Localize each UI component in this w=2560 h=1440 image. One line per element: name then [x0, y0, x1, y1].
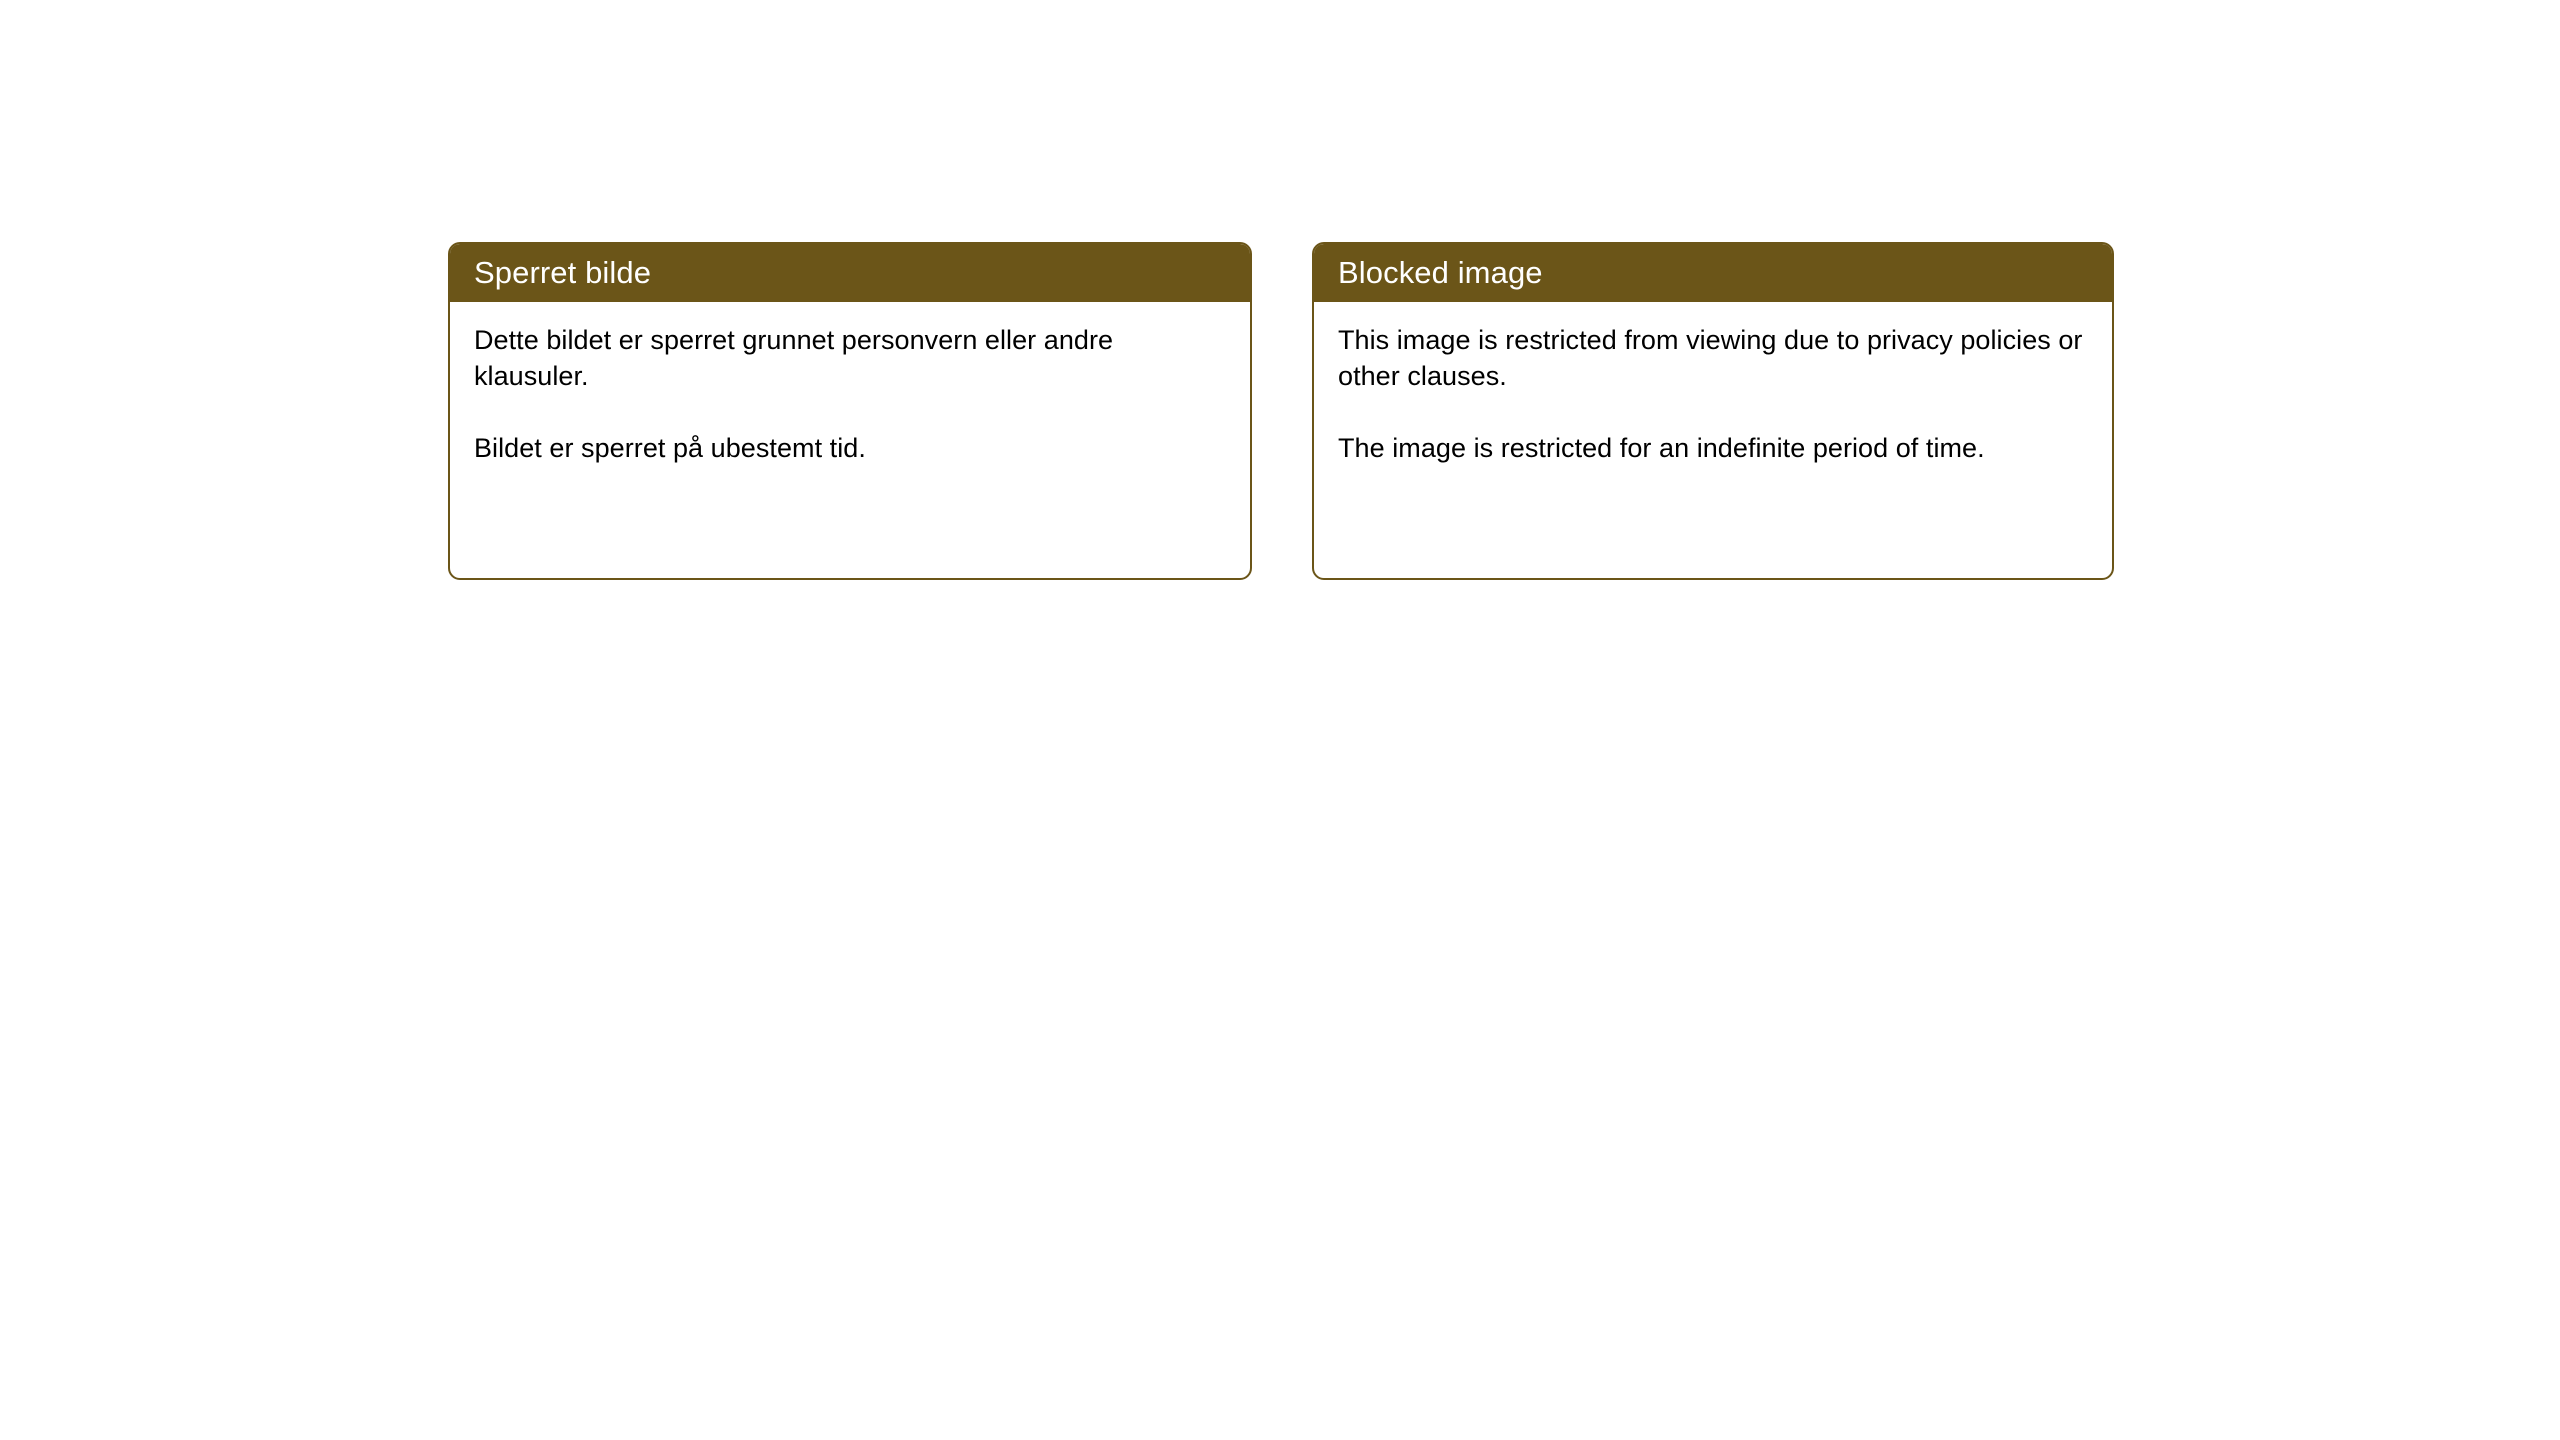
card-paragraph-secondary-no: Bildet er sperret på ubestemt tid. — [474, 430, 1226, 466]
card-title-en: Blocked image — [1338, 254, 1543, 292]
card-title-no: Sperret bilde — [474, 254, 651, 292]
card-body-en: This image is restricted from viewing du… — [1314, 302, 2112, 466]
card-header-en: Blocked image — [1314, 244, 2112, 302]
page-canvas: Sperret bilde Dette bildet er sperret gr… — [0, 0, 2560, 1440]
card-header-no: Sperret bilde — [450, 244, 1250, 302]
card-paragraph-primary-no: Dette bildet er sperret grunnet personve… — [474, 322, 1226, 394]
blocked-image-notice-no: Sperret bilde Dette bildet er sperret gr… — [448, 242, 1252, 580]
blocked-image-notice-en: Blocked image This image is restricted f… — [1312, 242, 2114, 580]
card-paragraph-secondary-en: The image is restricted for an indefinit… — [1338, 430, 2088, 466]
card-body-no: Dette bildet er sperret grunnet personve… — [450, 302, 1250, 466]
card-paragraph-primary-en: This image is restricted from viewing du… — [1338, 322, 2088, 394]
